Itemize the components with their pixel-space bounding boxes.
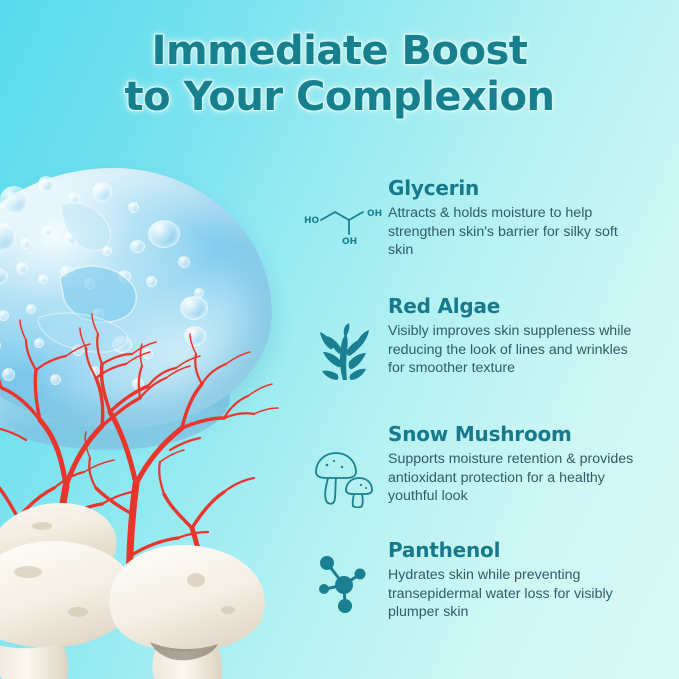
ingredient-name-red-algae: Red Algae [388,294,662,318]
mushroom-outline-icon [302,450,386,508]
ingredient-name-glycerin: Glycerin [388,176,662,200]
glycerin-label-right: OH [367,209,382,219]
ingredient-description-snow-mushroom: Supports moisture retention & provides a… [388,450,644,506]
ingredient-description-panthenol: Hydrates skin while preventing transepid… [388,566,644,622]
ingredient-item-glycerin: HO OH OH Glycerin Attracts & holds moist… [302,176,662,272]
gel-blob-lower-lobe [0,330,230,450]
seaweed-icon [302,322,386,384]
ingredient-item-snow-mushroom: Snow Mushroom Supports moisture retentio… [302,422,662,518]
mushroom-image [0,484,282,679]
molecule-nodes-icon [302,552,386,614]
infographic-canvas: Immediate Boost to Your Complexion HO OH… [0,0,679,679]
gel-blob [0,168,272,428]
ingredient-description-red-algae: Visibly improves skin suppleness while r… [388,322,644,378]
title-line-1: Immediate Boost [0,28,679,74]
glycerin-label-left: HO [304,216,320,226]
glycerin-molecule-icon: HO OH OH [302,208,386,254]
ingredient-item-panthenol: Panthenol Hydrates skin while preventing… [302,538,662,634]
ingredient-list: HO OH OH Glycerin Attracts & holds moist… [302,176,662,634]
title-line-2: to Your Complexion [0,74,679,120]
page-title: Immediate Boost to Your Complexion [0,28,679,120]
ingredient-name-snow-mushroom: Snow Mushroom [388,422,662,446]
red-coral-image [0,300,300,630]
glycerin-label-bottom: OH [342,237,357,247]
ingredient-description-glycerin: Attracts & holds moisture to help streng… [388,204,644,260]
ingredient-item-red-algae: Red Algae Visibly improves skin supplene… [302,294,662,390]
ingredient-name-panthenol: Panthenol [388,538,662,562]
